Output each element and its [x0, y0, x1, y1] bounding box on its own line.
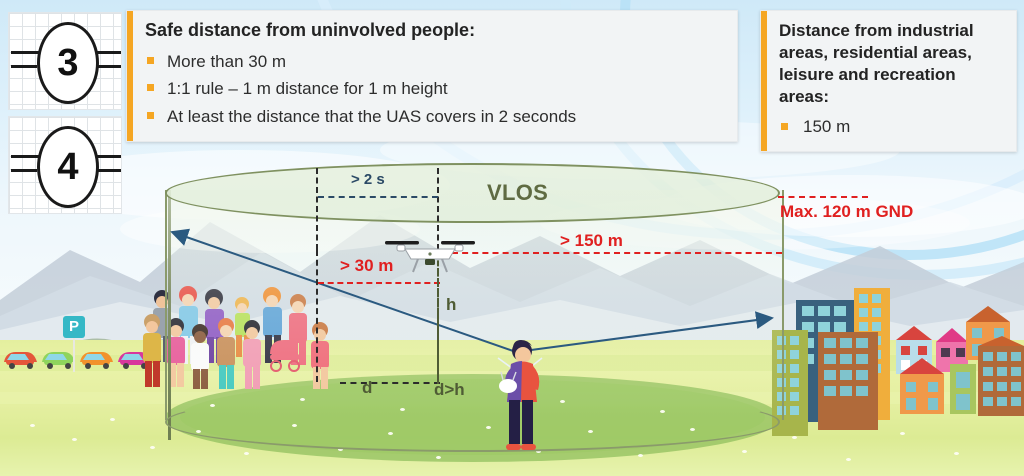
- guide-height-h: [437, 268, 439, 384]
- guide-2s-left: [316, 168, 318, 250]
- callout-title: Safe distance from uninvolved people:: [145, 20, 723, 42]
- callout-list: 150 m: [779, 114, 1002, 140]
- badge-number: 4: [37, 126, 99, 208]
- vlos-cylinder-top-ellipse: [165, 163, 780, 223]
- label-d-greater-than-h: d>h: [434, 380, 465, 400]
- list-item: At least the distance that the UAS cover…: [145, 103, 723, 131]
- infographic-scene: P: [0, 0, 1024, 476]
- accent-bar: [761, 11, 767, 151]
- drone-icon: [383, 236, 477, 276]
- badge-number: 3: [37, 22, 99, 104]
- badge-line: [11, 65, 37, 68]
- parking-sign: P: [63, 316, 85, 338]
- label-two-seconds: > 2 s: [351, 171, 385, 188]
- callout-title: Distance from industrial areas, resident…: [779, 20, 1002, 108]
- callout-list: More than 30 m 1:1 rule – 1 m distance f…: [145, 48, 723, 131]
- badge-3: 3: [8, 12, 122, 110]
- drone-pilot: [492, 336, 546, 454]
- label-150m: > 150 m: [560, 231, 623, 251]
- callout-safe-distance: Safe distance from uninvolved people: Mo…: [126, 10, 738, 142]
- accent-bar: [127, 11, 133, 141]
- guide-vertical-left: [316, 250, 318, 382]
- guide-distance-d: [340, 382, 440, 384]
- label-max-height: Max. 120 m GND: [780, 202, 913, 222]
- city-buildings: [770, 272, 1024, 450]
- label-distance-d: d: [362, 378, 372, 398]
- parked-cars: [0, 336, 160, 376]
- guide-30m: [318, 282, 440, 284]
- vlos-cylinder-base-ellipse: [165, 392, 780, 452]
- guide-max-height: [778, 196, 868, 198]
- parking-sign-pole: [73, 338, 75, 372]
- badge-line: [11, 169, 37, 172]
- label-30m: > 30 m: [340, 256, 393, 276]
- list-item: 150 m: [779, 114, 1002, 140]
- guide-2s-span: [318, 196, 438, 198]
- list-item: More than 30 m: [145, 48, 723, 76]
- callout-distance-from-areas: Distance from industrial areas, resident…: [760, 10, 1017, 152]
- list-item: 1:1 rule – 1 m distance for 1 m height: [145, 75, 723, 103]
- label-vlos: VLOS: [487, 180, 548, 206]
- label-height-h: h: [446, 295, 456, 315]
- badge-4: 4: [8, 116, 122, 214]
- guide-150m: [452, 252, 782, 254]
- vlos-cylinder-body: [165, 190, 784, 420]
